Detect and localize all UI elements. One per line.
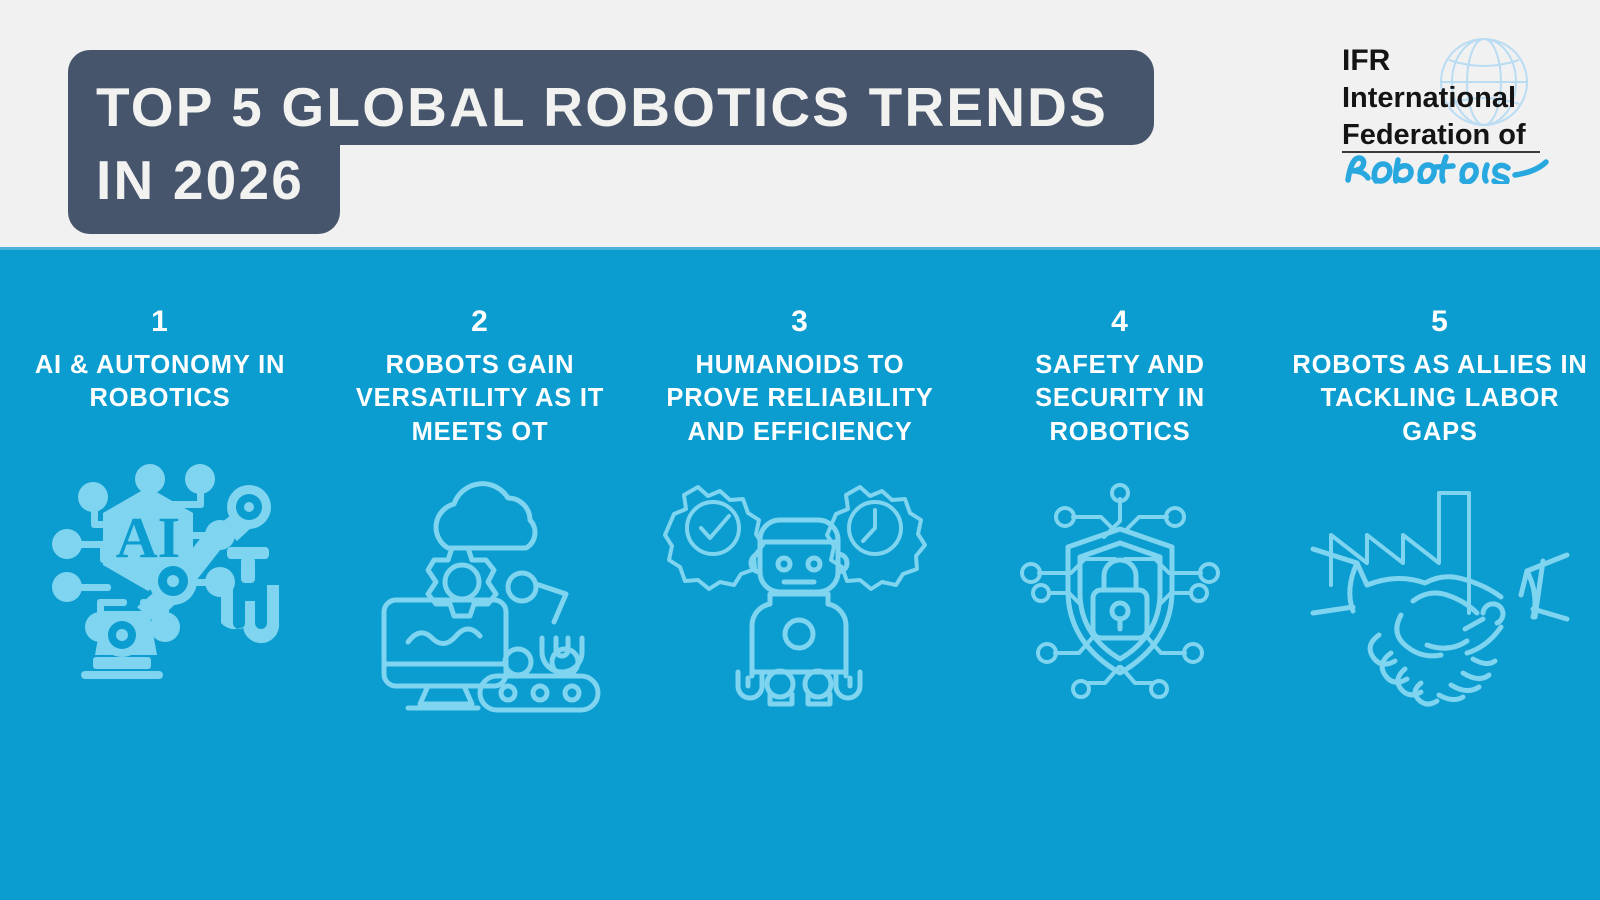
- trends-band: 1 AI & AUTONOMY IN ROBOTICS: [0, 247, 1600, 900]
- trend-title-5: ROBOTS AS ALLIES IN TACKLING LABOR GAPS: [1280, 349, 1600, 449]
- trend-number-3: 3: [791, 307, 809, 337]
- header-band: TOP 5 GLOBAL ROBOTICS TRENDS IN 2026 IFR…: [0, 0, 1600, 247]
- logo-script-robotics: [1348, 157, 1546, 184]
- trends-columns: 1 AI & AUTONOMY IN ROBOTICS: [0, 307, 1600, 717]
- logo-line2: International: [1342, 82, 1516, 114]
- trend-number-5: 5: [1431, 307, 1449, 337]
- trend-title-1: AI & AUTONOMY IN ROBOTICS: [0, 349, 320, 416]
- trend-column-5: 5 ROBOTS AS ALLIES IN TACKLING LABOR GAP…: [1280, 307, 1600, 717]
- trend-number-1: 1: [151, 307, 169, 337]
- ifr-logo: IFR International Federation of: [1332, 34, 1562, 184]
- trend-number-4: 4: [1111, 307, 1129, 337]
- shield-padlock-circuit-icon: [995, 467, 1245, 717]
- trend-number-2: 2: [471, 307, 489, 337]
- page-title: TOP 5 GLOBAL ROBOTICS TRENDS IN 2026: [68, 50, 1154, 234]
- handshake-factory-icon: [1315, 467, 1565, 717]
- trend-title-3: HUMANOIDS TO PROVE RELIABILITY AND EFFIC…: [640, 349, 960, 449]
- trend-column-4: 4 SAFETY AND SECURITY IN ROBOTICS: [960, 307, 1280, 717]
- infographic-page: TOP 5 GLOBAL ROBOTICS TRENDS IN 2026 IFR…: [0, 0, 1600, 900]
- trend-column-3: 3 HUMANOIDS TO PROVE RELIABILITY AND EFF…: [640, 307, 960, 717]
- logo-line3: Federation of: [1342, 119, 1526, 151]
- trend-column-1: 1 AI & AUTONOMY IN ROBOTICS: [0, 307, 320, 684]
- cloud-gear-monitor-conveyor-icon: [355, 467, 605, 717]
- trend-title-2: ROBOTS GAIN VERSATILITY AS IT MEETS OT: [320, 349, 640, 449]
- logo-line1: IFR: [1342, 44, 1391, 77]
- trend-title-4: SAFETY AND SECURITY IN ROBOTICS: [960, 349, 1280, 449]
- ai-robotic-arm-icon: AI: [35, 434, 285, 684]
- humanoid-robot-gears-icon: [675, 467, 925, 717]
- trend-column-2: 2 ROBOTS GAIN VERSATILITY AS IT MEETS OT: [320, 307, 640, 717]
- page-title-line1: TOP 5 GLOBAL ROBOTICS TRENDS: [68, 50, 1154, 145]
